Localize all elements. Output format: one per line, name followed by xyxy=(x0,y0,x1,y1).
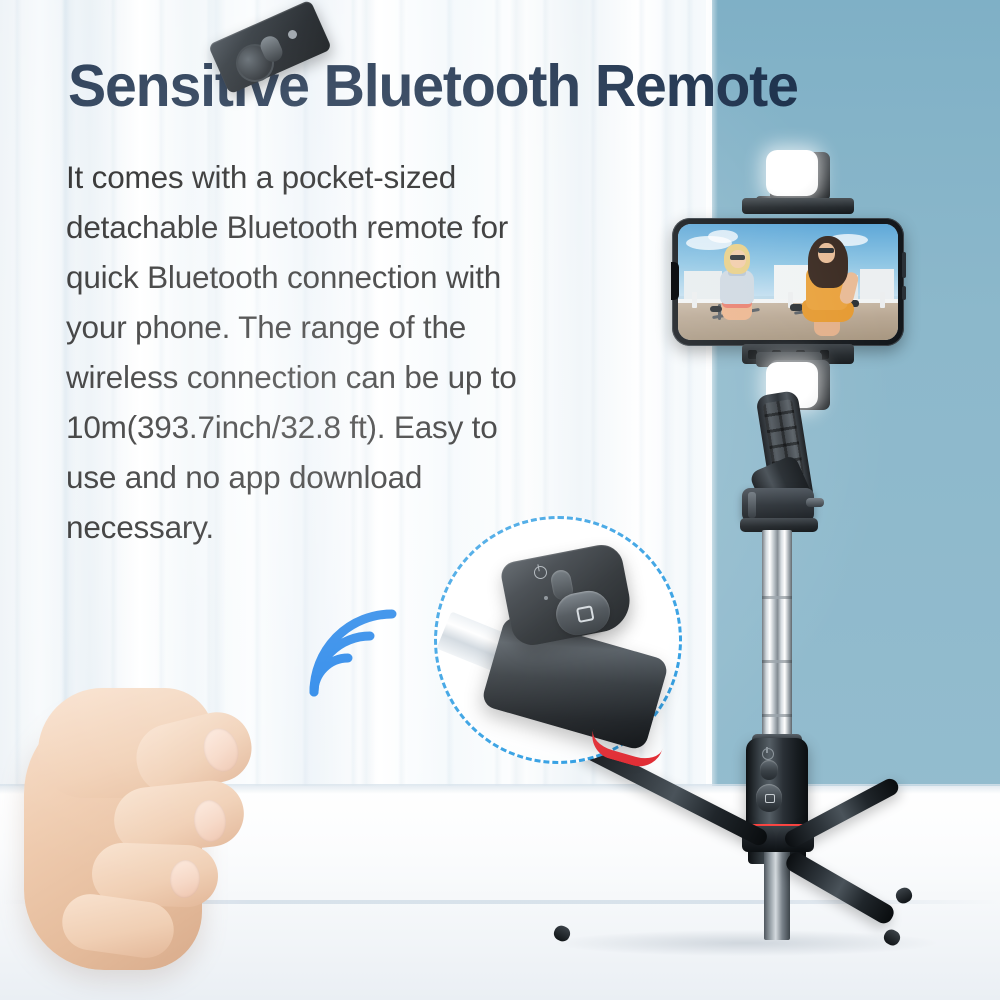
screen-rail-post xyxy=(880,292,885,308)
screen-cyclist2-face xyxy=(818,243,835,263)
power-icon xyxy=(762,748,774,760)
led-fill-light-top xyxy=(766,150,818,196)
phone-screen xyxy=(678,224,898,340)
power-button[interactable] xyxy=(760,760,778,780)
screen-cyclist2-sunglasses xyxy=(818,248,834,253)
screen-building xyxy=(684,271,722,301)
joint-lock-knob[interactable] xyxy=(806,498,824,507)
screen-cloud xyxy=(708,230,738,243)
status-led-icon xyxy=(544,596,548,600)
pole-segment-line xyxy=(762,660,792,663)
description-line: wireless connection can be up to xyxy=(66,352,611,402)
status-led-icon xyxy=(288,30,297,39)
joint-ring xyxy=(748,492,756,518)
screen-building xyxy=(860,269,894,301)
description-line: use and no app download xyxy=(66,452,611,502)
smartphone xyxy=(672,218,904,346)
wireless-signal-icon xyxy=(300,596,410,706)
screen-rail-post xyxy=(692,292,697,308)
hand-holding-remote xyxy=(18,648,268,1000)
description-line: It comes with a pocket-sized xyxy=(66,152,611,202)
product-marketing-image: Sensitive Bluetooth Remote It comes with… xyxy=(0,0,1000,1000)
description-line: 10m(393.7inch/32.8 ft). Easy to xyxy=(66,402,611,452)
description-line: your phone. The range of the xyxy=(66,302,611,352)
screen-cyclist1-sunglasses xyxy=(730,255,745,260)
teal-backdrop-panel xyxy=(712,0,1000,800)
shutter-button[interactable] xyxy=(756,784,782,812)
tripod-ground-shadow xyxy=(556,930,936,956)
phone-assembly xyxy=(672,198,912,368)
description-text: It comes with a pocket-sized detachable … xyxy=(66,152,611,552)
description-line: detachable Bluetooth remote for xyxy=(66,202,611,252)
phone-button-power xyxy=(902,286,906,300)
telescoping-pole xyxy=(762,530,792,745)
pole-segment-line xyxy=(762,714,792,717)
description-line: quick Bluetooth connection with xyxy=(66,252,611,302)
pole-segment-line xyxy=(762,596,792,599)
phone-button-volume xyxy=(902,252,906,278)
page-title: Sensitive Bluetooth Remote xyxy=(68,52,941,120)
phone-notch xyxy=(671,262,679,300)
backdrop-seam xyxy=(706,0,718,800)
